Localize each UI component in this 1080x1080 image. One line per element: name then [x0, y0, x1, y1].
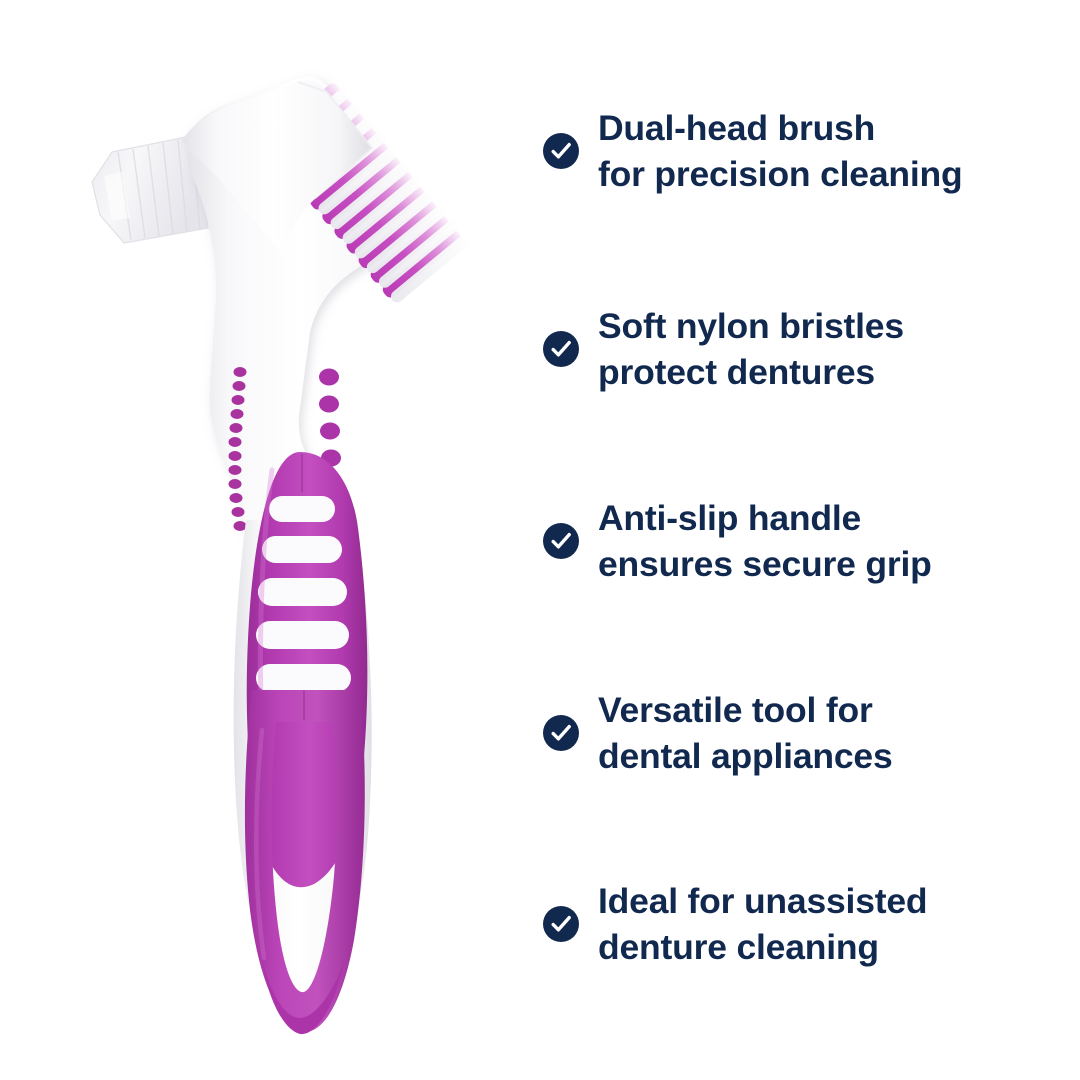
infographic-canvas: Dual-head brush for precision cleaning S… — [0, 0, 1080, 1080]
check-circle-icon — [543, 523, 579, 559]
benefit-item-versatile: Versatile tool for dental appliances — [520, 687, 1080, 779]
benefit-item-soft-bristles: Soft nylon bristles protect dentures — [520, 303, 1080, 395]
benefit-text: Anti-slip handle ensures secure grip — [598, 495, 1080, 587]
benefit-item-unassisted: Ideal for unassisted denture cleaning — [520, 878, 1080, 970]
check-circle-icon — [543, 331, 579, 367]
check-circle-icon — [543, 906, 579, 942]
check-circle-icon — [543, 133, 579, 169]
benefit-item-anti-slip: Anti-slip handle ensures secure grip — [520, 495, 1080, 587]
benefits-list: Dual-head brush for precision cleaning S… — [520, 0, 1080, 1080]
neck-accent-dots — [319, 369, 341, 467]
benefit-text: Ideal for unassisted denture cleaning — [598, 878, 1080, 970]
benefit-item-dual-head: Dual-head brush for precision cleaning — [520, 105, 1080, 197]
benefit-text: Dual-head brush for precision cleaning — [598, 105, 1080, 197]
product-image-panel — [0, 0, 520, 1080]
denture-brush-illustration — [0, 0, 520, 1080]
benefit-text: Versatile tool for dental appliances — [598, 687, 1080, 779]
check-circle-icon — [543, 715, 579, 751]
benefit-text: Soft nylon bristles protect dentures — [598, 303, 1080, 395]
